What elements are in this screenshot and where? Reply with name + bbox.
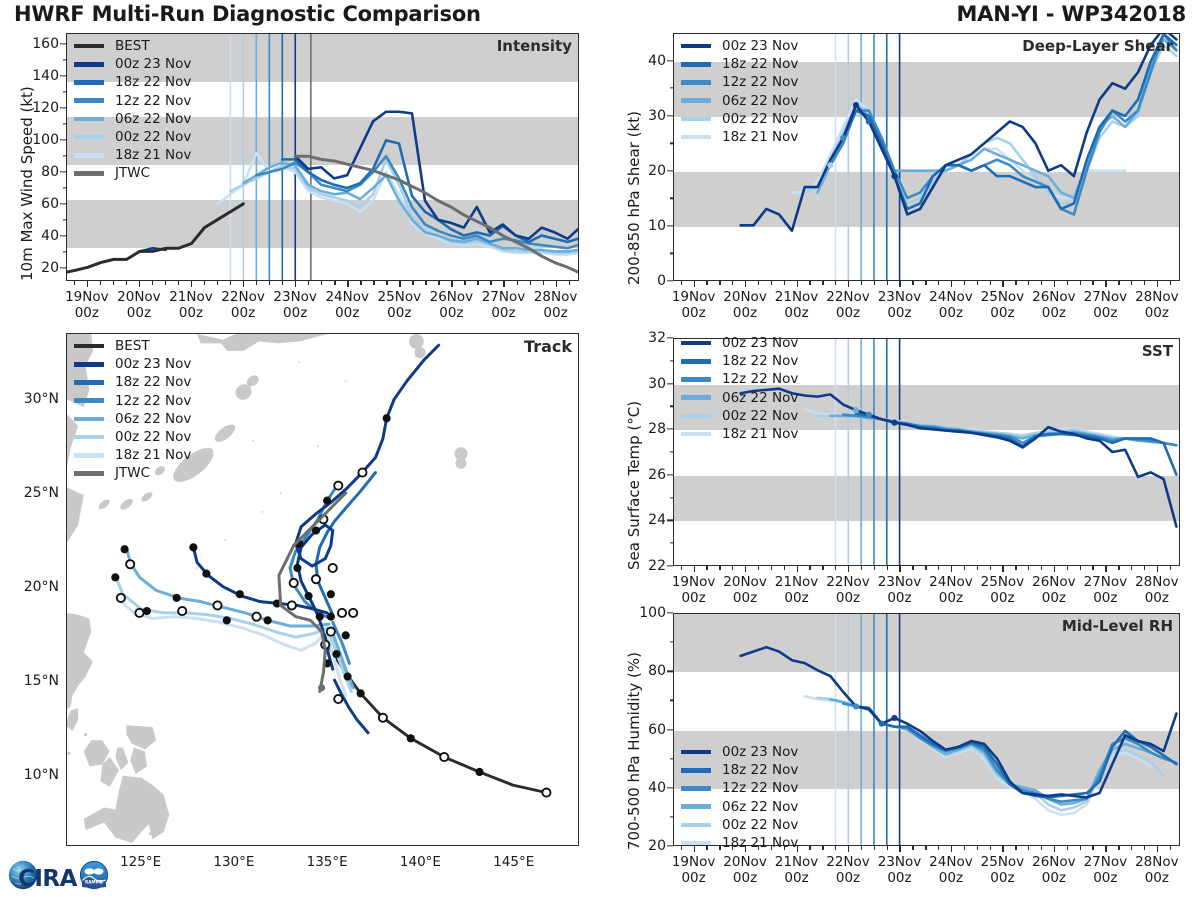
- x-tick-label: 26Nov00z: [430, 289, 474, 322]
- legend-item: 00z 22 Nov: [681, 407, 798, 425]
- y-tick-label: 28: [648, 421, 666, 437]
- legend-label: 18z 21 Nov: [722, 835, 798, 851]
- x-tick-mark-minor: [822, 566, 823, 570]
- x-tick-mark-minor: [835, 281, 836, 285]
- x-tick-mark-minor: [771, 566, 772, 570]
- x-tick-label: 21Nov00z: [775, 854, 819, 887]
- x-tick-mark-minor: [938, 566, 939, 570]
- y-tick-mark-minor: [670, 816, 674, 817]
- x-tick-mark-minor: [874, 566, 875, 570]
- x-tick-mark-minor: [269, 281, 270, 285]
- x-tick-mark-minor: [964, 846, 965, 850]
- y-tick-label: 24: [648, 512, 666, 528]
- x-tick-mark: [848, 846, 849, 852]
- y-tick-label: 20: [648, 163, 666, 179]
- x-tick-mark-minor: [719, 566, 720, 570]
- x-tick-label: 25Nov00z: [981, 574, 1025, 607]
- x-tick-mark-minor: [1144, 846, 1145, 850]
- x-tick-mark-minor: [1041, 281, 1042, 285]
- y-tick-mark: [60, 76, 66, 77]
- y-tick-mark: [667, 170, 673, 171]
- legend-item: 18z 22 Nov: [74, 73, 191, 91]
- legend-swatch-06z-22-nov: [74, 417, 104, 422]
- legend-swatch-00z-23-nov: [681, 341, 711, 346]
- legend-swatch-18z-22-nov: [74, 80, 104, 85]
- legend-label: 12z 22 Nov: [115, 393, 191, 409]
- x-tick-label: 25Nov00z: [378, 289, 422, 322]
- legend-label: 00z 23 Nov: [722, 38, 798, 54]
- legend-label: 00z 23 Nov: [115, 356, 191, 372]
- x-tick-mark-minor: [822, 281, 823, 285]
- x-tick-mark-minor: [925, 846, 926, 850]
- legend-label: 12z 22 Nov: [722, 780, 798, 796]
- legend-swatch-00z-23-nov: [74, 362, 104, 367]
- y-tick-label: 40: [648, 780, 666, 796]
- y-tick-label: 160: [32, 36, 59, 52]
- legend-item: 00z 23 Nov: [681, 743, 798, 761]
- x-tick-mark-minor: [732, 566, 733, 570]
- legend-item: 00z 22 Nov: [681, 816, 798, 834]
- legend-swatch-18z-21-nov: [74, 153, 104, 158]
- x-tick-mark-minor: [1170, 846, 1171, 850]
- x-tick-mark-minor: [517, 281, 518, 285]
- x-tick-mark-minor: [204, 281, 205, 285]
- x-tick-mark-minor: [490, 281, 491, 285]
- legend-item: 18z 22 Nov: [681, 352, 798, 370]
- x-tick-mark-minor: [1067, 846, 1068, 850]
- x-tick-mark-minor: [887, 846, 888, 850]
- x-tick-mark-minor: [861, 281, 862, 285]
- y-tick-mark: [667, 474, 673, 475]
- x-tick-mark-minor: [925, 281, 926, 285]
- cira-logo: CIRA RAMMB: [6, 852, 110, 896]
- legend-item: 18z 21 Nov: [681, 425, 798, 443]
- sst-legend: 00z 23 Nov18z 22 Nov12z 22 Nov06z 22 Nov…: [681, 334, 798, 443]
- x-tick-mark: [951, 846, 952, 852]
- y-tick-label: 120: [32, 100, 59, 116]
- x-tick-label: 23Nov00z: [878, 854, 922, 887]
- x-tick-mark-minor: [990, 846, 991, 850]
- x-tick-label: 21Nov00z: [169, 289, 213, 322]
- x-tick-mark-minor: [360, 281, 361, 285]
- y-tick-mark-minor: [670, 143, 674, 144]
- legend-swatch-18z-21-nov: [681, 841, 711, 846]
- x-tick-label: 22Nov00z: [826, 289, 870, 322]
- x-tick-label: 26Nov00z: [1032, 574, 1076, 607]
- x-tick-mark-minor: [1080, 846, 1081, 850]
- legend-swatch-12z-22-nov: [681, 786, 711, 791]
- y-tick-mark-minor: [63, 60, 67, 61]
- x-tick-mark-minor: [1144, 566, 1145, 570]
- x-tick-mark-minor: [977, 281, 978, 285]
- intensity-panel-label: Intensity: [497, 37, 572, 55]
- x-tick-mark-minor: [732, 281, 733, 285]
- x-tick-mark-minor: [126, 281, 127, 285]
- y-tick-mark-minor: [670, 700, 674, 701]
- x-tick-mark-minor: [784, 281, 785, 285]
- legend-item: 18z 21 Nov: [681, 834, 798, 852]
- legend-swatch-00z-23-nov: [681, 750, 711, 755]
- legend-swatch-06z-22-nov: [681, 804, 711, 809]
- x-tick-mark: [1002, 846, 1003, 852]
- legend-item: 18z 21 Nov: [74, 146, 191, 164]
- y-tick-mark: [667, 787, 673, 788]
- x-tick-label: 28Nov00z: [1135, 289, 1179, 322]
- legend-swatch-00z-22-nov: [681, 414, 711, 419]
- y-tick-mark-minor: [670, 758, 674, 759]
- x-tick-mark: [556, 281, 557, 287]
- x-tick-label: 26Nov00z: [1032, 854, 1076, 887]
- x-tick-mark: [745, 281, 746, 287]
- y-tick-label: 22: [648, 558, 666, 574]
- y-tick-label: 26: [648, 467, 666, 483]
- x-tick-mark: [694, 566, 695, 572]
- x-tick-mark-minor: [1144, 281, 1145, 285]
- x-tick-mark-minor: [543, 281, 544, 285]
- y-tick-mark: [667, 383, 673, 384]
- x-tick-mark-minor: [822, 846, 823, 850]
- legend-item: 06z 22 Nov: [681, 92, 798, 110]
- x-tick-mark: [899, 566, 900, 572]
- x-tick-mark: [1157, 281, 1158, 287]
- x-tick-mark-minor: [977, 566, 978, 570]
- intensity-legend: BEST00z 23 Nov18z 22 Nov12z 22 Nov06z 22…: [74, 37, 191, 183]
- y-tick-mark-minor: [670, 406, 674, 407]
- x-tick-label: 23Nov00z: [273, 289, 317, 322]
- x-tick-mark-minor: [719, 281, 720, 285]
- legend-label: JTWC: [115, 165, 150, 181]
- x-tick-label: 20Nov00z: [723, 854, 767, 887]
- legend-item: BEST: [74, 37, 191, 55]
- lon-tick-label: 125°E: [120, 854, 161, 870]
- y-tick-label: 60: [41, 196, 59, 212]
- y-tick-mark: [60, 204, 66, 205]
- legend-item: 12z 22 Nov: [74, 392, 191, 410]
- legend-item: 18z 22 Nov: [681, 761, 798, 779]
- x-tick-mark-minor: [373, 281, 374, 285]
- legend-swatch-18z-22-nov: [681, 62, 711, 67]
- x-tick-mark: [797, 566, 798, 572]
- x-tick-mark: [139, 281, 140, 287]
- x-tick-mark-minor: [809, 281, 810, 285]
- x-tick-label: 25Nov00z: [981, 289, 1025, 322]
- legend-label: 18z 21 Nov: [115, 147, 191, 163]
- shear-legend: 00z 23 Nov18z 22 Nov12z 22 Nov06z 22 Nov…: [681, 37, 798, 146]
- y-tick-label: 40: [648, 53, 666, 69]
- y-tick-mark-minor: [670, 360, 674, 361]
- x-tick-mark-minor: [990, 281, 991, 285]
- x-tick-mark-minor: [835, 566, 836, 570]
- y-tick-mark: [667, 60, 673, 61]
- panel-track: Track 10°N15°N20°N25°N30°N 125°E130°E135…: [66, 333, 579, 846]
- x-tick-mark-minor: [530, 281, 531, 285]
- legend-label: 18z 21 Nov: [722, 426, 798, 442]
- lat-tick-label: 15°N: [24, 673, 59, 689]
- x-tick-label: 24Nov00z: [929, 289, 973, 322]
- y-tick-label: 20: [41, 260, 59, 276]
- rh-panel-label: Mid-Level RH: [1062, 617, 1173, 635]
- x-tick-mark-minor: [1118, 846, 1119, 850]
- panel-deep-layer-shear: Deep-Layer Shear 200-850 hPa Shear (kt) …: [673, 33, 1180, 281]
- y-tick-mark: [667, 429, 673, 430]
- x-tick-mark-minor: [1170, 566, 1171, 570]
- x-tick-mark: [243, 281, 244, 287]
- y-tick-label: 60: [648, 722, 666, 738]
- x-tick-mark-minor: [1092, 846, 1093, 850]
- x-tick-mark-minor: [321, 281, 322, 285]
- y-tick-mark-minor: [670, 253, 674, 254]
- x-tick-label: 28Nov00z: [1135, 574, 1179, 607]
- x-tick-mark-minor: [925, 566, 926, 570]
- legend-label: 00z 22 Nov: [722, 817, 798, 833]
- y-tick-label: 100: [32, 132, 59, 148]
- legend-item: 06z 22 Nov: [681, 389, 798, 407]
- x-tick-label: 28Nov00z: [534, 289, 578, 322]
- x-tick-mark: [295, 281, 296, 287]
- legend-label: 00z 22 Nov: [115, 129, 191, 145]
- legend-swatch-18z-21-nov: [681, 432, 711, 437]
- x-tick-label: 28Nov00z: [1135, 854, 1179, 887]
- x-tick-mark: [1105, 281, 1106, 287]
- x-tick-label: 27Nov00z: [1084, 289, 1128, 322]
- x-tick-mark-minor: [887, 566, 888, 570]
- x-tick-mark-minor: [230, 281, 231, 285]
- x-tick-mark-minor: [282, 281, 283, 285]
- x-tick-mark-minor: [977, 846, 978, 850]
- lon-tick-label: 145°E: [493, 854, 534, 870]
- y-tick-label: 100: [639, 605, 666, 621]
- legend-swatch-best: [74, 344, 104, 349]
- x-tick-label: 20Nov00z: [117, 289, 161, 322]
- x-tick-mark: [399, 281, 400, 287]
- y-tick-mark-minor: [63, 220, 67, 221]
- legend-item: 06z 22 Nov: [74, 110, 191, 128]
- x-tick-label: 20Nov00z: [723, 289, 767, 322]
- y-tick-mark-minor: [63, 252, 67, 253]
- x-tick-mark: [745, 566, 746, 572]
- x-tick-mark-minor: [1067, 566, 1068, 570]
- x-tick-mark-minor: [835, 846, 836, 850]
- x-tick-label: 23Nov00z: [878, 574, 922, 607]
- legend-label: 18z 22 Nov: [115, 74, 191, 90]
- x-tick-mark: [347, 281, 348, 287]
- legend-label: BEST: [115, 338, 150, 354]
- x-tick-mark-minor: [861, 566, 862, 570]
- x-tick-label: 19Nov00z: [65, 289, 109, 322]
- sst-panel-label: SST: [1142, 342, 1173, 360]
- x-tick-mark-minor: [771, 281, 772, 285]
- x-tick-mark-minor: [1015, 281, 1016, 285]
- lat-tick-label: 10°N: [24, 767, 59, 783]
- panel-mid-level-rh: Mid-Level RH 700-500 hPa Humidity (%) 20…: [673, 613, 1180, 846]
- legend-item: JTWC: [74, 464, 191, 482]
- x-tick-mark-minor: [964, 281, 965, 285]
- x-tick-mark-minor: [1131, 566, 1132, 570]
- y-tick-label: 20: [648, 838, 666, 854]
- x-tick-mark: [848, 566, 849, 572]
- shear-panel-label: Deep-Layer Shear: [1022, 37, 1173, 55]
- y-tick-mark-minor: [670, 87, 674, 88]
- y-tick-mark: [60, 44, 66, 45]
- x-tick-mark: [951, 566, 952, 572]
- x-tick-label: 19Nov00z: [672, 289, 716, 322]
- x-tick-mark-minor: [758, 281, 759, 285]
- legend-label: 00z 22 Nov: [722, 111, 798, 127]
- x-tick-mark-minor: [1041, 566, 1042, 570]
- x-tick-mark-minor: [334, 281, 335, 285]
- y-tick-label: 30: [648, 376, 666, 392]
- svg-text:CIRA: CIRA: [18, 866, 78, 892]
- legend-label: 06z 22 Nov: [722, 93, 798, 109]
- y-tick-mark-minor: [63, 124, 67, 125]
- x-tick-mark-minor: [990, 566, 991, 570]
- x-tick-label: 24Nov00z: [929, 854, 973, 887]
- x-tick-label: 19Nov00z: [672, 854, 716, 887]
- x-tick-mark: [451, 281, 452, 287]
- x-tick-mark-minor: [438, 281, 439, 285]
- lon-tick-label: 130°E: [213, 854, 254, 870]
- x-tick-label: 21Nov00z: [775, 289, 819, 322]
- x-tick-label: 27Nov00z: [1084, 854, 1128, 887]
- legend-label: 00z 23 Nov: [115, 56, 191, 72]
- track-legend: BEST00z 23 Nov18z 22 Nov12z 22 Nov06z 22…: [74, 337, 191, 483]
- legend-item: 00z 23 Nov: [681, 37, 798, 55]
- y-tick-label: 80: [648, 663, 666, 679]
- y-tick-label: 0: [657, 273, 666, 289]
- x-tick-mark: [694, 281, 695, 287]
- legend-label: 06z 22 Nov: [722, 390, 798, 406]
- y-tick-mark: [60, 140, 66, 141]
- legend-label: 12z 22 Nov: [722, 74, 798, 90]
- legend-label: 06z 22 Nov: [115, 411, 191, 427]
- legend-label: 12z 22 Nov: [722, 371, 798, 387]
- legend-item: JTWC: [74, 164, 191, 182]
- x-tick-mark-minor: [874, 846, 875, 850]
- y-tick-mark: [667, 337, 673, 338]
- legend-label: 00z 23 Nov: [722, 744, 798, 760]
- x-tick-mark-minor: [1092, 566, 1093, 570]
- legend-swatch-18z-21-nov: [681, 135, 711, 140]
- x-tick-mark-minor: [113, 281, 114, 285]
- legend-swatch-12z-22-nov: [681, 80, 711, 85]
- x-tick-mark-minor: [1067, 281, 1068, 285]
- x-tick-mark-minor: [681, 566, 682, 570]
- x-tick-mark-minor: [706, 566, 707, 570]
- y-tick-mark-minor: [670, 451, 674, 452]
- legend-item: BEST: [74, 337, 191, 355]
- legend-item: 18z 21 Nov: [681, 128, 798, 146]
- x-tick-mark-minor: [1041, 846, 1042, 850]
- x-tick-mark-minor: [1131, 846, 1132, 850]
- x-tick-mark-minor: [912, 846, 913, 850]
- legend-item: 00z 23 Nov: [74, 55, 191, 73]
- x-tick-mark-minor: [1080, 281, 1081, 285]
- x-tick-label: 27Nov00z: [1084, 574, 1128, 607]
- x-tick-label: 27Nov00z: [482, 289, 526, 322]
- x-tick-mark: [899, 846, 900, 852]
- legend-label: 18z 22 Nov: [722, 353, 798, 369]
- x-tick-mark-minor: [1131, 281, 1132, 285]
- x-tick-mark-minor: [784, 566, 785, 570]
- x-tick-mark-minor: [681, 281, 682, 285]
- legend-label: 00z 22 Nov: [115, 429, 191, 445]
- y-tick-mark: [667, 671, 673, 672]
- legend-label: 18z 22 Nov: [722, 762, 798, 778]
- legend-label: 06z 22 Nov: [722, 799, 798, 815]
- x-tick-mark-minor: [706, 281, 707, 285]
- legend-label: 18z 21 Nov: [722, 129, 798, 145]
- legend-swatch-00z-22-nov: [74, 135, 104, 140]
- svg-text:RAMMB: RAMMB: [85, 880, 103, 885]
- legend-swatch-18z-22-nov: [74, 380, 104, 385]
- x-tick-mark-minor: [256, 281, 257, 285]
- x-tick-mark-minor: [1118, 566, 1119, 570]
- x-tick-mark-minor: [1028, 846, 1029, 850]
- legend-swatch-12z-22-nov: [74, 98, 104, 103]
- legend-swatch-00z-22-nov: [681, 823, 711, 828]
- rh-legend: 00z 23 Nov18z 22 Nov12z 22 Nov06z 22 Nov…: [681, 743, 798, 852]
- legend-swatch-06z-22-nov: [681, 98, 711, 103]
- legend-label: 18z 22 Nov: [722, 56, 798, 72]
- legend-swatch-best: [74, 44, 104, 49]
- panel-intensity: Intensity 10m Max Wind Speed (kt) 204060…: [66, 33, 579, 281]
- x-tick-mark-minor: [938, 846, 939, 850]
- sst-y-axis-label: Sea Surface Temp (°C): [625, 401, 643, 570]
- legend-item: 12z 22 Nov: [74, 92, 191, 110]
- x-tick-mark: [1157, 846, 1158, 852]
- y-tick-mark: [60, 108, 66, 109]
- x-tick-mark: [191, 281, 192, 287]
- x-tick-mark: [1105, 566, 1106, 572]
- y-tick-mark: [667, 612, 673, 613]
- legend-item: 00z 22 Nov: [74, 128, 191, 146]
- x-tick-mark: [1105, 846, 1106, 852]
- y-tick-mark: [667, 225, 673, 226]
- x-tick-mark: [1054, 281, 1055, 287]
- x-tick-mark-minor: [1028, 281, 1029, 285]
- legend-item: 18z 22 Nov: [681, 55, 798, 73]
- x-tick-label: 24Nov00z: [929, 574, 973, 607]
- x-tick-mark: [951, 281, 952, 287]
- legend-swatch-06z-22-nov: [74, 117, 104, 122]
- legend-label: 00z 23 Nov: [722, 335, 798, 351]
- x-tick-label: 26Nov00z: [1032, 289, 1076, 322]
- legend-swatch-18z-21-nov: [74, 453, 104, 458]
- legend-item: 00z 22 Nov: [681, 110, 798, 128]
- y-tick-mark-minor: [63, 156, 67, 157]
- legend-swatch-00z-23-nov: [74, 62, 104, 67]
- legend-label: 00z 22 Nov: [722, 408, 798, 424]
- cira-logo-svg: CIRA RAMMB: [6, 852, 110, 896]
- y-tick-label: 40: [41, 228, 59, 244]
- x-tick-mark-minor: [1015, 566, 1016, 570]
- legend-item: 00z 22 Nov: [74, 428, 191, 446]
- legend-item: 18z 21 Nov: [74, 446, 191, 464]
- y-tick-label: 32: [648, 330, 666, 346]
- lat-tick-label: 25°N: [24, 485, 59, 501]
- y-tick-mark: [667, 729, 673, 730]
- x-tick-mark-minor: [1080, 566, 1081, 570]
- x-tick-mark-minor: [809, 846, 810, 850]
- y-tick-mark-minor: [670, 543, 674, 544]
- y-tick-mark: [667, 520, 673, 521]
- legend-item: 06z 22 Nov: [74, 410, 191, 428]
- y-tick-mark-minor: [63, 92, 67, 93]
- shear-y-axis-label: 200-850 hPa Shear (kt): [625, 111, 643, 285]
- x-tick-mark: [899, 281, 900, 287]
- x-tick-mark-minor: [217, 281, 218, 285]
- x-tick-mark-minor: [912, 281, 913, 285]
